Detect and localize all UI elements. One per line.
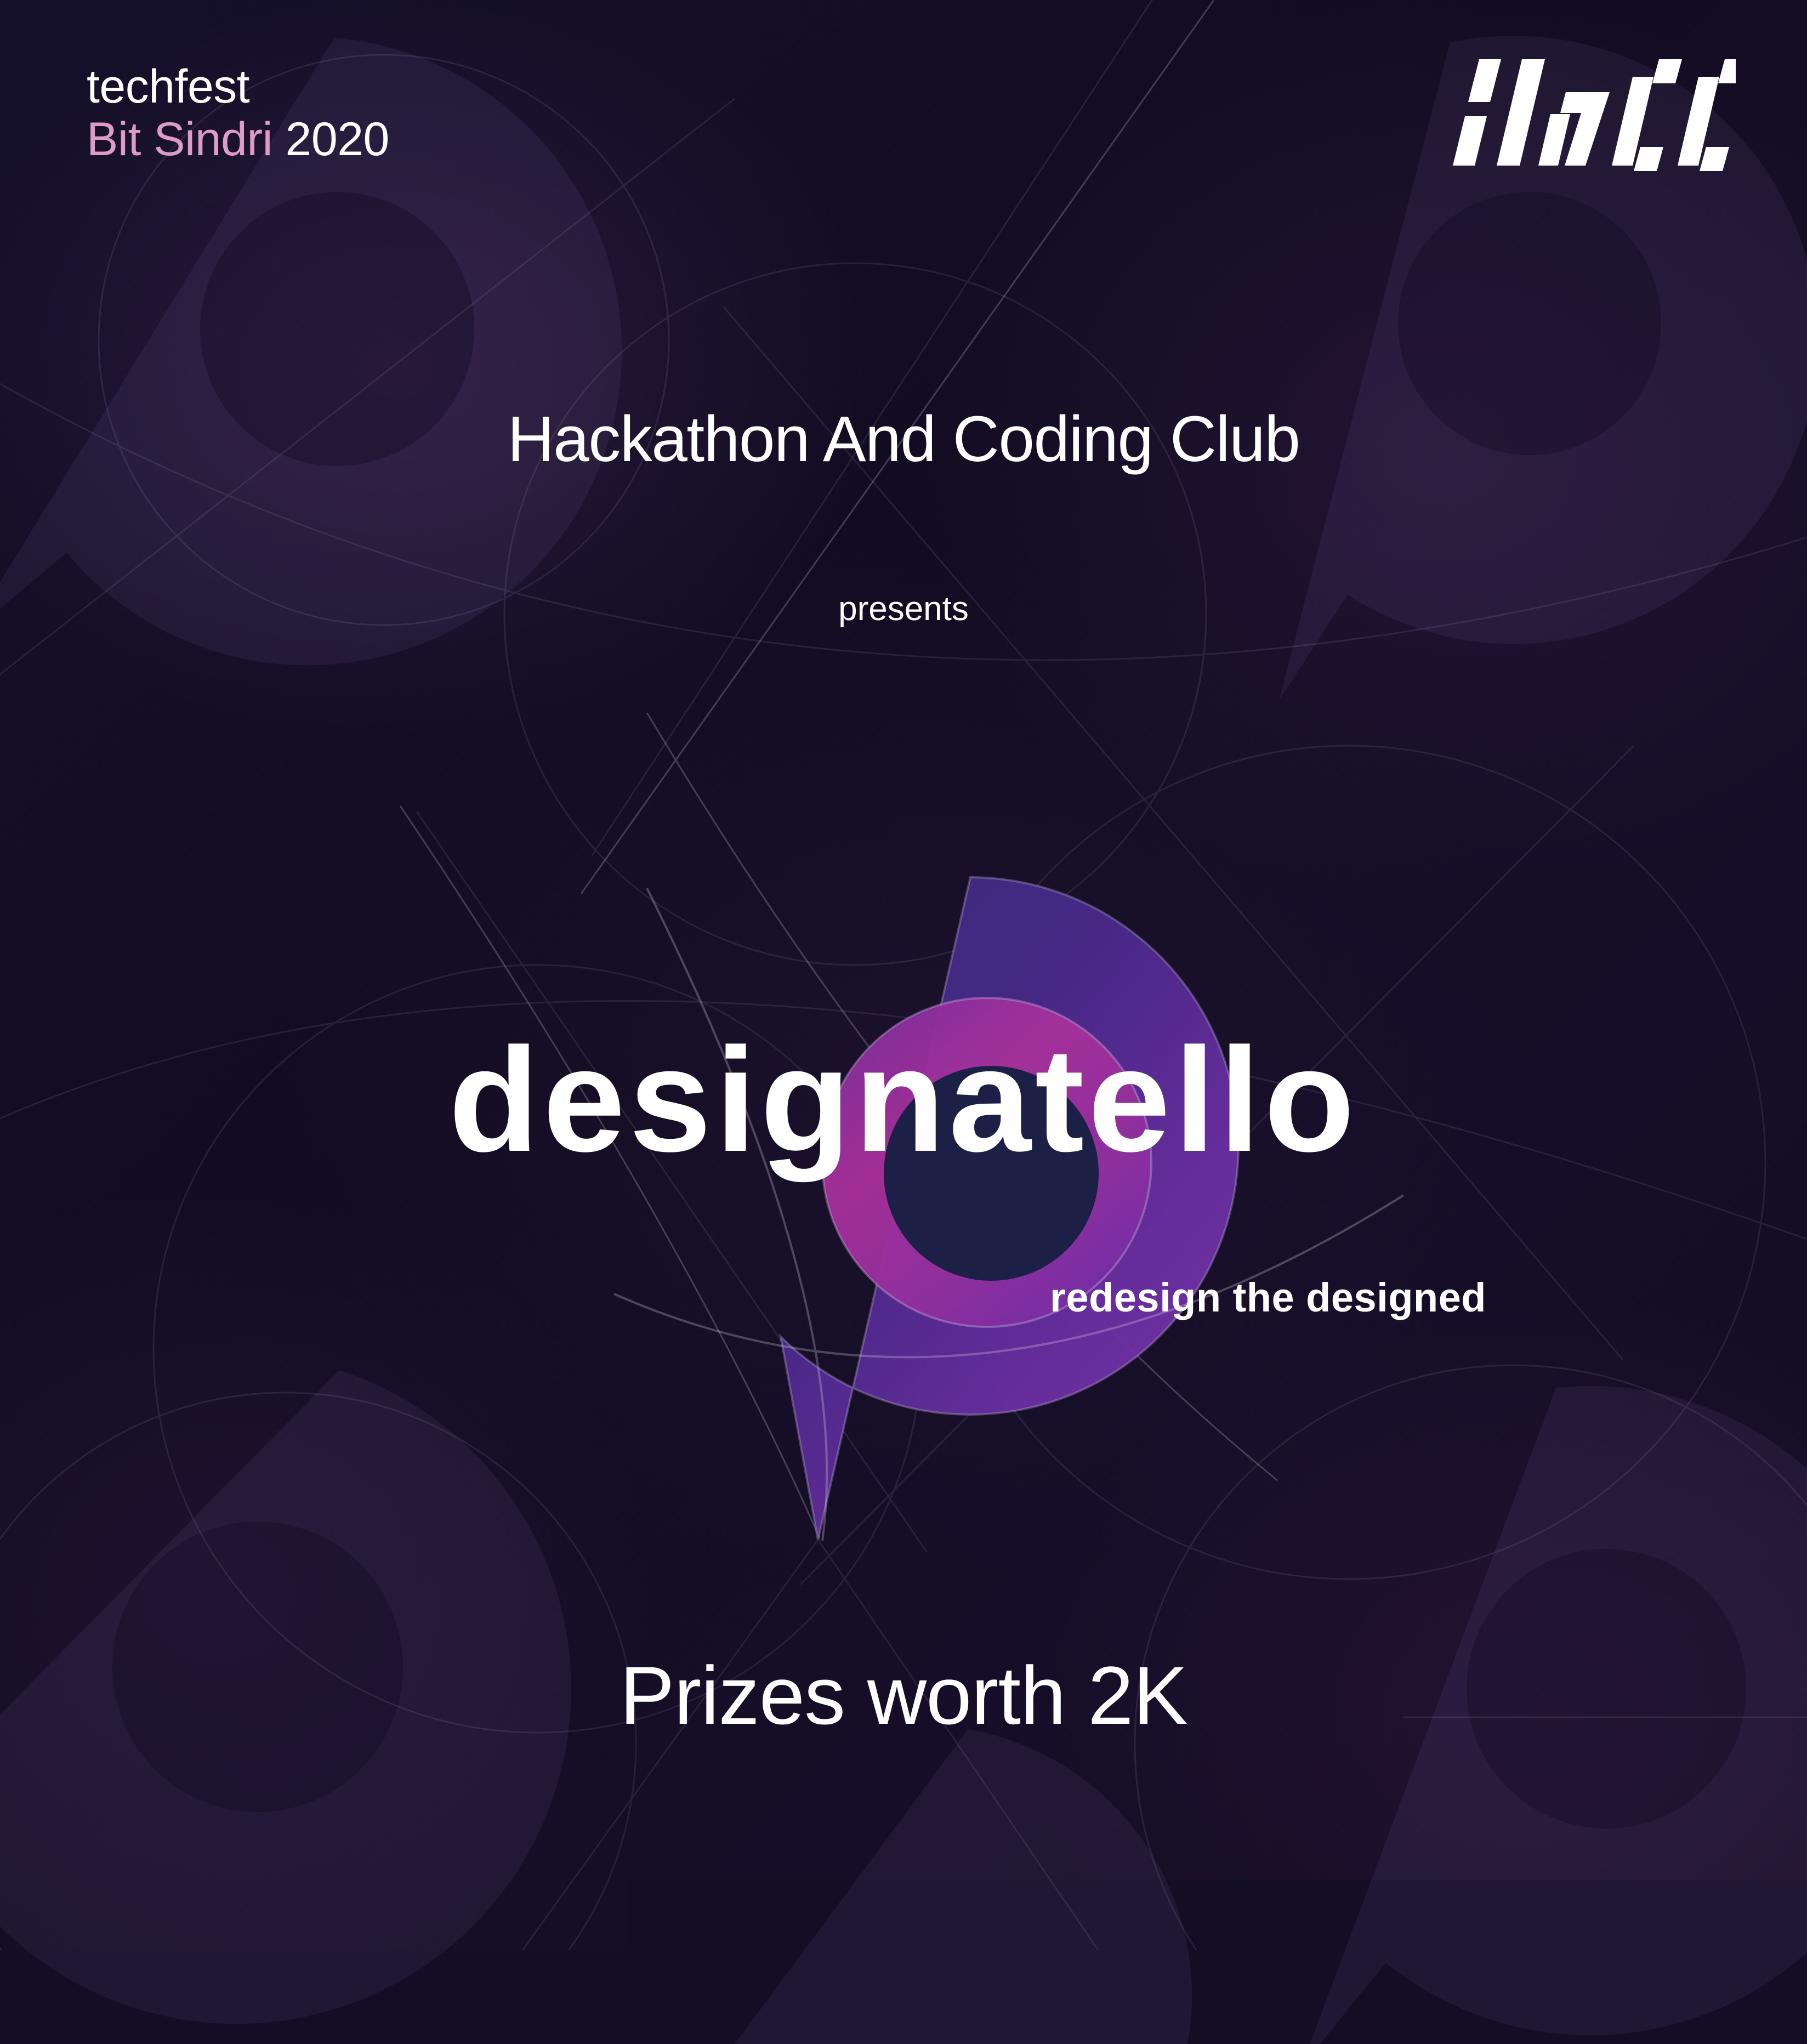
club-name-heading: Hackathon And Coding Club bbox=[0, 402, 1807, 476]
hacc-logo[interactable] bbox=[1429, 49, 1736, 175]
presents-label: presents bbox=[0, 589, 1807, 628]
poster-header: techfest Bit Sindri 2020 bbox=[0, 0, 1807, 208]
techfest-year: 2020 bbox=[286, 113, 389, 166]
poster-canvas: techfest Bit Sindri 2020 bbox=[0, 0, 1807, 2044]
hacc-logo-icon bbox=[1429, 49, 1736, 175]
event-name-wordmark: designatello bbox=[0, 1026, 1807, 1174]
techfest-label: techfest bbox=[87, 60, 389, 113]
event-tagline: redesign the designed bbox=[1050, 1274, 1486, 1321]
prizes-text: Prizes worth 2K bbox=[0, 1648, 1807, 1743]
techfest-location-year: Bit Sindri 2020 bbox=[87, 113, 389, 166]
techfest-branding: techfest Bit Sindri 2020 bbox=[87, 60, 389, 166]
techfest-city: Bit Sindri bbox=[87, 113, 272, 166]
